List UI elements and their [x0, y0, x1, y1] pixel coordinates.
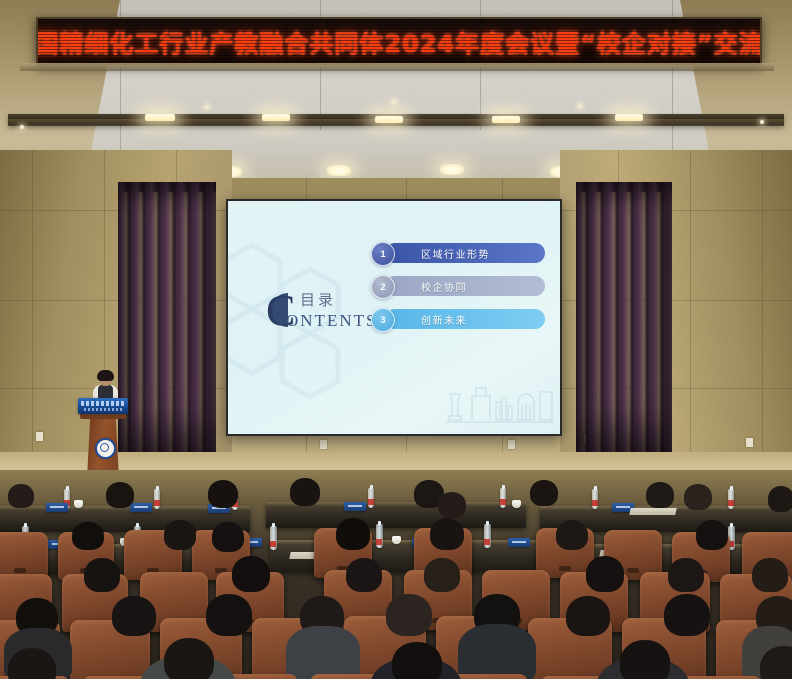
water-bottle [368, 488, 374, 508]
toc-item-number: 3 [371, 308, 395, 332]
wall-outlet [36, 432, 43, 441]
presentation-slide: C 目录 ONTENTS 区域行业形势 1 校企协同 2 [228, 201, 560, 434]
wall-outlet [320, 440, 327, 449]
speaker-podium [80, 412, 126, 478]
water-bottle [484, 524, 491, 548]
attendee-head [212, 522, 244, 552]
attendee-head [106, 482, 134, 508]
wall-seam [762, 150, 763, 470]
institution-emblem-icon [95, 438, 116, 459]
led-banner: 全国精细化工行业产教融合共同体2024年度会议暨“校企对接”交流会 [36, 17, 762, 65]
attendee-head [752, 558, 788, 592]
ceiling-strip-light [145, 114, 175, 121]
toc-bar: 创新未来 [385, 309, 545, 329]
toc-item-label: 创新未来 [421, 312, 467, 327]
attendee-body [458, 624, 536, 679]
auditorium-photo: 全国精细化工行业产教融合共同体2024年度会议暨“校企对接”交流会 [0, 0, 792, 679]
handout-paper [629, 508, 676, 515]
attendee-head [112, 596, 156, 636]
ceiling-downlight [205, 105, 209, 109]
toc-item-number: 2 [371, 275, 395, 299]
toc-item-label: 区域行业形势 [421, 246, 490, 261]
attendee-head [430, 518, 464, 550]
attendee-head [386, 594, 432, 636]
ceiling-downlight [20, 125, 24, 129]
ceiling-downlight [578, 104, 582, 108]
toc-item-number: 1 [371, 242, 395, 266]
toc-item: 校企协同 2 [371, 276, 551, 296]
contents-title-en: ONTENTS [286, 311, 377, 331]
attendee-head [566, 596, 610, 636]
toc-bar: 区域行业形势 [385, 243, 545, 263]
attendee-head [164, 638, 214, 679]
tea-cup [512, 500, 521, 508]
attendee-head [72, 522, 104, 550]
wall-seam [32, 150, 33, 470]
ceiling-strip-light [615, 114, 643, 121]
slide-toc-list: 区域行业形势 1 校企协同 2 创新未来 3 [371, 243, 551, 342]
toc-item: 创新未来 3 [371, 309, 551, 329]
name-placard [344, 502, 366, 511]
table-surface [270, 540, 536, 544]
attendee-head [620, 640, 670, 679]
water-bottle [270, 526, 277, 550]
attendee-head [206, 594, 252, 636]
wall-seam [690, 150, 691, 470]
attendee-head [556, 520, 588, 550]
wall-outlet [508, 440, 515, 449]
attendee-head [208, 480, 238, 508]
attendee-head [768, 486, 792, 512]
banner-shelf [20, 63, 774, 71]
attendee-head [290, 478, 320, 506]
ceiling-strip-light [375, 116, 403, 123]
audience-area [0, 470, 792, 679]
attendee-head [646, 482, 674, 508]
tea-cup [392, 536, 401, 544]
lab-equipment-graphic [446, 376, 554, 430]
ceiling-panel-light [327, 165, 351, 176]
attendee-head [8, 484, 34, 508]
attendee-head [164, 520, 196, 550]
presenter-hair [97, 370, 114, 381]
ceiling-downlight [760, 120, 764, 124]
attendee-head [586, 556, 624, 592]
attendee-head [392, 642, 442, 679]
tea-cup [74, 500, 83, 508]
name-placard [46, 503, 68, 512]
water-bottle [154, 489, 160, 509]
attendee-head [684, 484, 712, 510]
attendee-head [346, 558, 382, 592]
toc-bar: 校企协同 [385, 276, 545, 296]
podium-banner-text-line [81, 401, 125, 406]
stage-curtain-left [118, 182, 216, 452]
podium-banner-subtext-line [84, 408, 122, 411]
ceiling-panel-light [440, 164, 464, 175]
attendee-head [336, 518, 370, 550]
ceiling-strip-light [262, 114, 290, 121]
name-placard [130, 503, 152, 512]
podium-banner [78, 398, 128, 414]
toc-item-label: 校企协同 [421, 279, 467, 294]
attendee-head [232, 556, 270, 592]
attendee-head [438, 492, 466, 518]
auditorium-seat[interactable] [0, 532, 48, 580]
wall-outlet [746, 438, 753, 447]
water-bottle [376, 524, 383, 548]
name-placard [508, 538, 530, 547]
stage-curtain-right [576, 182, 672, 452]
water-bottle [728, 489, 734, 509]
attendee-head [84, 558, 120, 592]
attendee-head [696, 520, 728, 550]
ceiling-downlight [392, 100, 396, 104]
contents-title-cn: 目录 [300, 289, 336, 310]
toc-item: 区域行业形势 1 [371, 243, 551, 263]
attendee-body [286, 626, 360, 679]
attendee-head [664, 594, 710, 636]
water-bottle [500, 488, 506, 508]
attendee-head [668, 558, 704, 592]
attendee-head [530, 480, 558, 506]
attendee-head [424, 558, 460, 592]
led-banner-text: 全国精细化工行业产教融合共同体2024年度会议暨“校企对接”交流会 [36, 24, 762, 59]
ceiling-strip-light [492, 116, 520, 123]
projection-screen: C 目录 ONTENTS 区域行业形势 1 校企协同 2 [226, 199, 562, 436]
water-bottle [592, 489, 598, 509]
